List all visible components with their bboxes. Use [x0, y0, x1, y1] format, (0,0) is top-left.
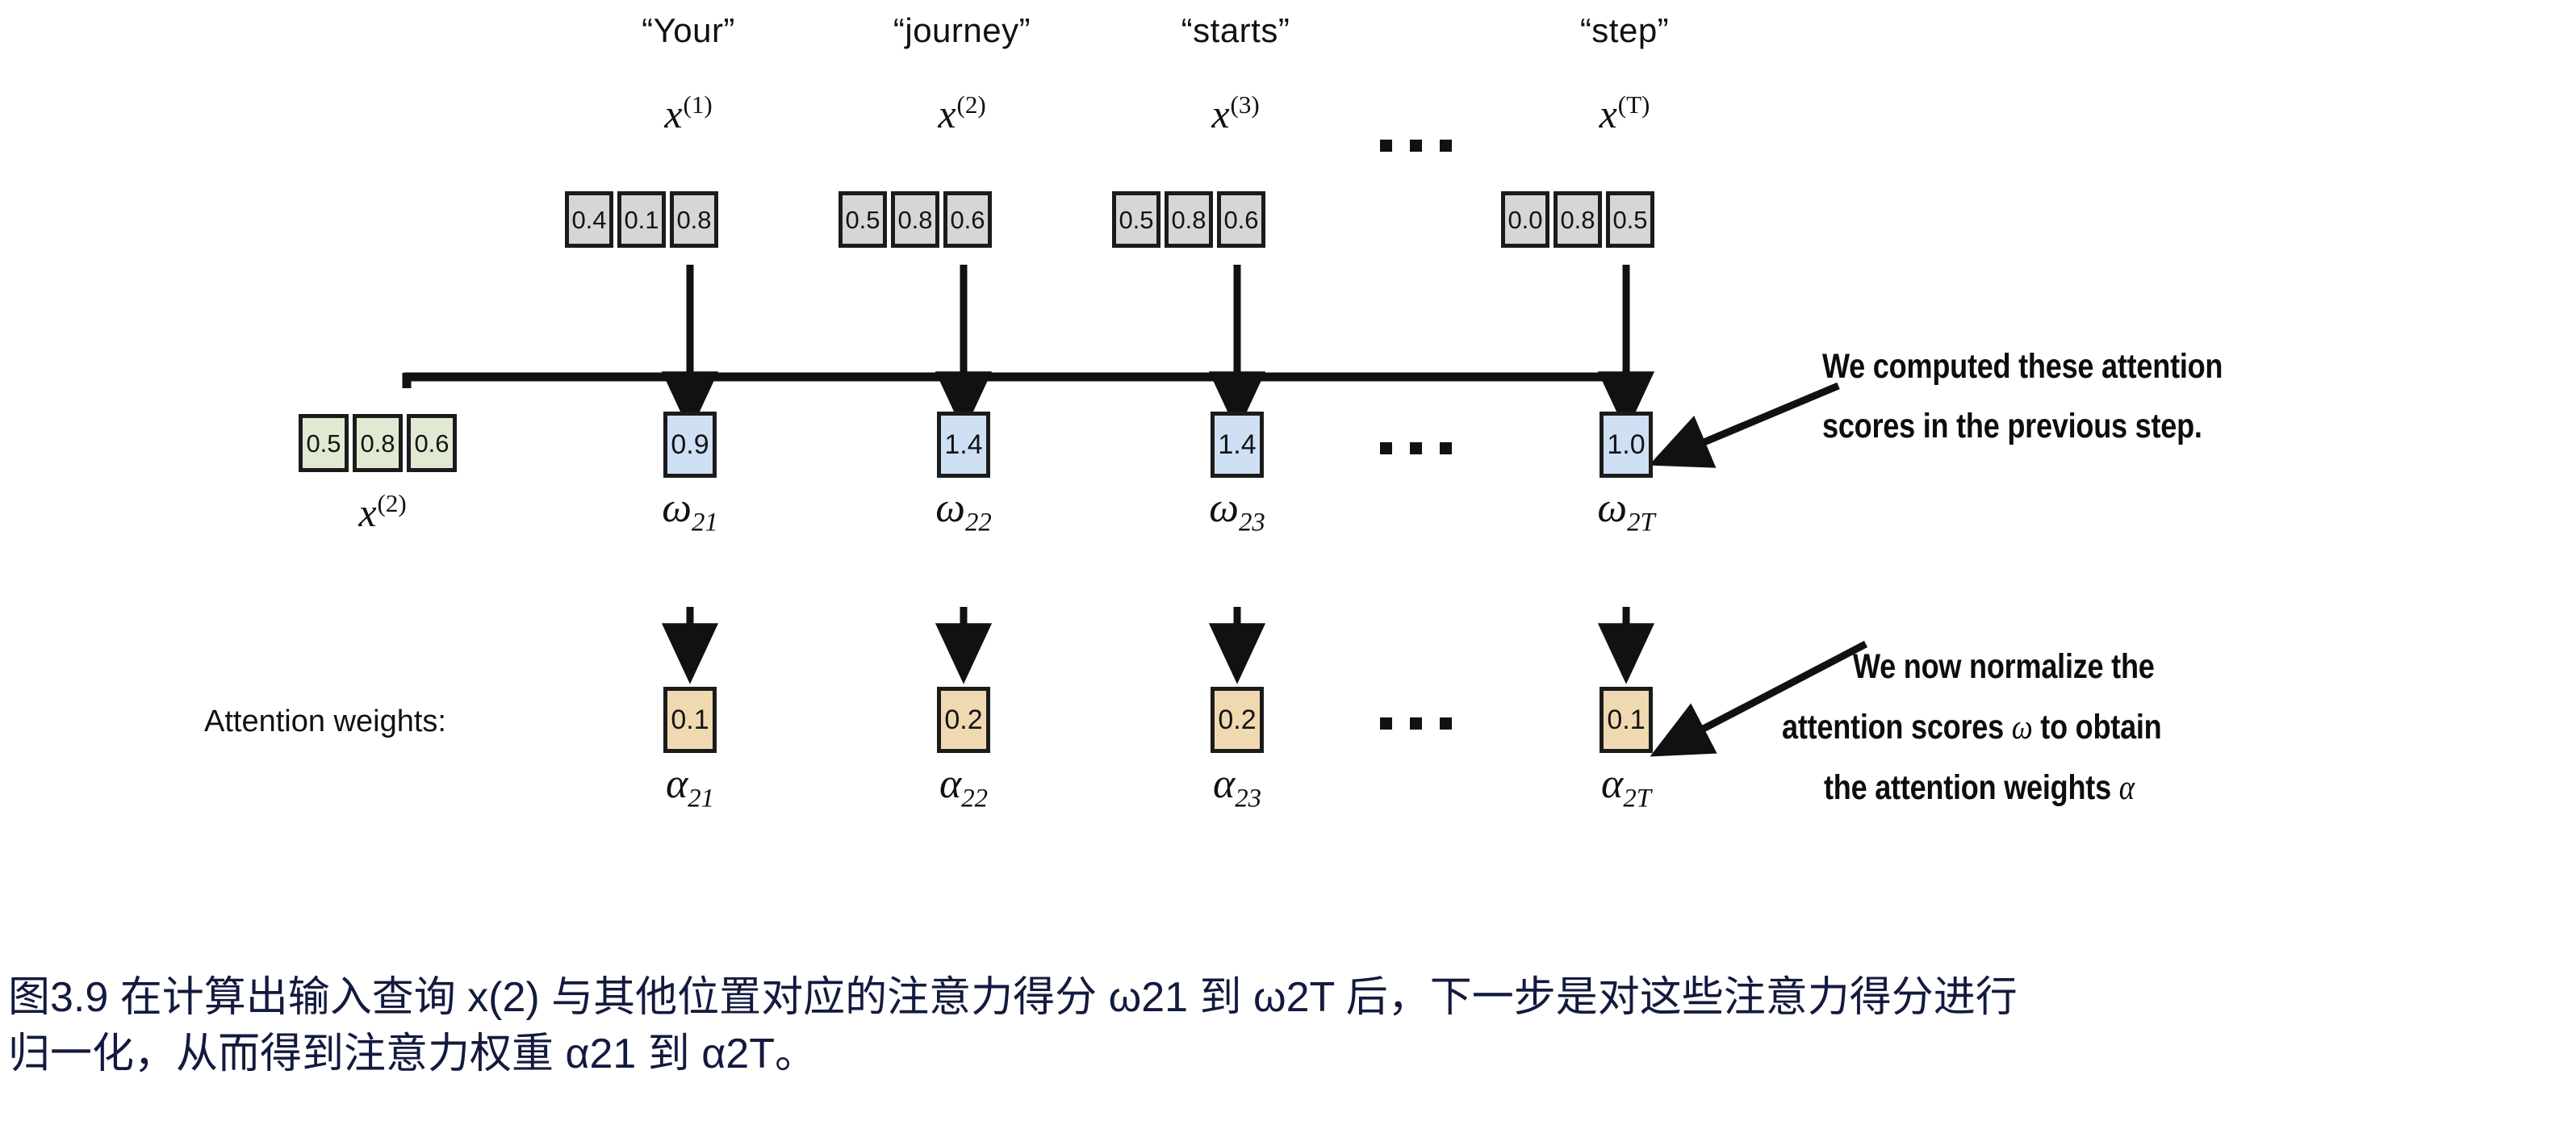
- alpha-sub-2: 22: [961, 784, 988, 813]
- omega-sub-2: 22: [965, 508, 992, 537]
- token-index-sup-3: (3): [1231, 90, 1260, 119]
- callout-scores-line2: scores in the previous step.: [1822, 397, 2223, 457]
- token-index-sup-2: (2): [957, 90, 986, 119]
- token-vector-1: 0.4 0.1 0.8: [565, 191, 718, 248]
- token-index-base-2: x: [938, 91, 956, 136]
- token-cell: 0.5: [1606, 191, 1654, 248]
- token-vector-2: 0.5 0.8 0.6: [838, 191, 992, 248]
- query-label-base: x: [358, 490, 376, 535]
- token-cell: 0.5: [838, 191, 887, 248]
- omega-label-4: ω2T: [1505, 484, 1747, 537]
- alpha-label-1: α21: [569, 760, 811, 813]
- query-label-sup: (2): [378, 489, 407, 517]
- token-cell: 0.4: [565, 191, 613, 248]
- token-word-2: “journey”: [841, 11, 1083, 50]
- token-word-4: “step”: [1503, 11, 1746, 50]
- attention-score-cell-3: 1.4: [1211, 412, 1264, 478]
- callout-weights-line1: We now normalize the: [1853, 638, 2173, 697]
- ellipsis-dot: [1410, 717, 1422, 730]
- token-cell: 0.8: [670, 191, 718, 248]
- connector-overlay: [0, 0, 2576, 1125]
- query-cell: 0.5: [299, 414, 349, 472]
- alpha-base-1: α: [666, 761, 688, 807]
- token-cell: 0.1: [617, 191, 666, 248]
- attention-score-cell-1: 0.9: [663, 412, 717, 478]
- ellipsis-dot: [1440, 140, 1452, 152]
- token-index-label-1: x(1): [567, 90, 809, 137]
- omega-base-4: ω: [1597, 485, 1627, 531]
- query-vector: 0.5 0.8 0.6: [299, 414, 457, 472]
- callout-weights-line2-a: attention scores: [1782, 708, 2012, 747]
- attention-weight-cell-2: 0.2: [937, 687, 990, 753]
- ellipsis-dot: [1410, 442, 1422, 454]
- attention-weight-cell-1: 0.1: [663, 687, 717, 753]
- attention-score-ellipsis: [1380, 442, 1452, 454]
- alpha-label-3: α23: [1116, 760, 1358, 813]
- alpha-sub-1: 21: [688, 784, 714, 813]
- omega-label-2: ω22: [843, 484, 1085, 537]
- token-index-ellipsis: [1380, 140, 1452, 152]
- figure-caption-line1: 图3.9 在计算出输入查询 x(2) 与其他位置对应的注意力得分 ω21 到 ω…: [8, 970, 2018, 1027]
- attention-weight-cell-4: 0.1: [1600, 687, 1653, 753]
- token-cell: 0.8: [891, 191, 939, 248]
- alpha-label-2: α22: [843, 760, 1085, 813]
- attention-weight-ellipsis: [1380, 717, 1452, 730]
- alpha-sub-3: 23: [1235, 784, 1261, 813]
- ellipsis-dot: [1380, 140, 1392, 152]
- token-index-sup-4: (T): [1618, 90, 1650, 119]
- omega-sub-3: 23: [1239, 508, 1265, 537]
- query-label: x(2): [299, 489, 466, 536]
- alpha-base-3: α: [1213, 761, 1235, 807]
- token-index-sup-1: (1): [684, 90, 713, 119]
- omega-label-3: ω23: [1116, 484, 1358, 537]
- omega-base-3: ω: [1209, 485, 1239, 531]
- figure-canvas: “Your” “journey” “starts” “step” x(1) x(…: [0, 0, 2576, 1125]
- token-index-label-2: x(2): [841, 90, 1083, 137]
- attention-score-cell-4: 1.0: [1600, 412, 1653, 478]
- alpha-base-4: α: [1601, 761, 1623, 807]
- token-cell: 0.5: [1112, 191, 1160, 248]
- query-cell: 0.8: [353, 414, 403, 472]
- callout-attention-scores: We computed these attention scores in th…: [1822, 337, 2299, 457]
- attention-weight-cell-3: 0.2: [1211, 687, 1264, 753]
- alpha-label-4: α2T: [1505, 760, 1747, 813]
- alpha-sub-4: 2T: [1623, 784, 1651, 813]
- token-index-label-3: x(3): [1114, 90, 1357, 137]
- callout-scores-line1: We computed these attention: [1822, 337, 2223, 397]
- figure-caption: 图3.9 在计算出输入查询 x(2) 与其他位置对应的注意力得分 ω21 到 ω…: [8, 970, 2018, 1082]
- token-index-base-1: x: [664, 91, 682, 136]
- callout-weights-line2-b: to obtain: [2033, 708, 2162, 747]
- omega-label-1: ω21: [569, 484, 811, 537]
- attention-weights-row-label: Attention weights:: [204, 705, 446, 739]
- token-index-label-4: x(T): [1503, 90, 1746, 137]
- token-cell: 0.6: [943, 191, 992, 248]
- callout-attention-weights: We now normalize the attention scores ω …: [1782, 638, 2234, 819]
- alpha-symbol-icon: α: [2119, 768, 2135, 807]
- omega-base-2: ω: [935, 485, 965, 531]
- ellipsis-dot: [1380, 717, 1392, 730]
- omega-sub-4: 2T: [1627, 508, 1655, 537]
- omega-base-1: ω: [662, 485, 692, 531]
- token-cell: 0.8: [1554, 191, 1602, 248]
- token-index-base-4: x: [1600, 91, 1617, 136]
- token-cell: 0.6: [1217, 191, 1265, 248]
- token-cell: 0.0: [1501, 191, 1549, 248]
- callout-weights-line2: attention scores ω to obtain: [1782, 697, 2162, 758]
- token-word-1: “Your”: [567, 11, 809, 50]
- token-word-3: “starts”: [1114, 11, 1357, 50]
- token-cell: 0.8: [1165, 191, 1213, 248]
- callout-weights-line3: the attention weights α: [1824, 758, 2168, 818]
- token-index-base-3: x: [1211, 91, 1229, 136]
- token-vector-4: 0.0 0.8 0.5: [1501, 191, 1654, 248]
- ellipsis-dot: [1440, 717, 1452, 730]
- query-cell: 0.6: [407, 414, 457, 472]
- alpha-base-2: α: [939, 761, 961, 807]
- figure-caption-line2: 归一化，从而得到注意力权重 α21 到 α2T。: [8, 1027, 2018, 1083]
- omega-symbol-icon: ω: [2012, 708, 2033, 747]
- omega-sub-1: 21: [692, 508, 718, 537]
- token-vector-3: 0.5 0.8 0.6: [1112, 191, 1265, 248]
- ellipsis-dot: [1380, 442, 1392, 454]
- attention-score-cell-2: 1.4: [937, 412, 990, 478]
- ellipsis-dot: [1440, 442, 1452, 454]
- callout-weights-line3-a: the attention weights: [1824, 768, 2119, 807]
- ellipsis-dot: [1410, 140, 1422, 152]
